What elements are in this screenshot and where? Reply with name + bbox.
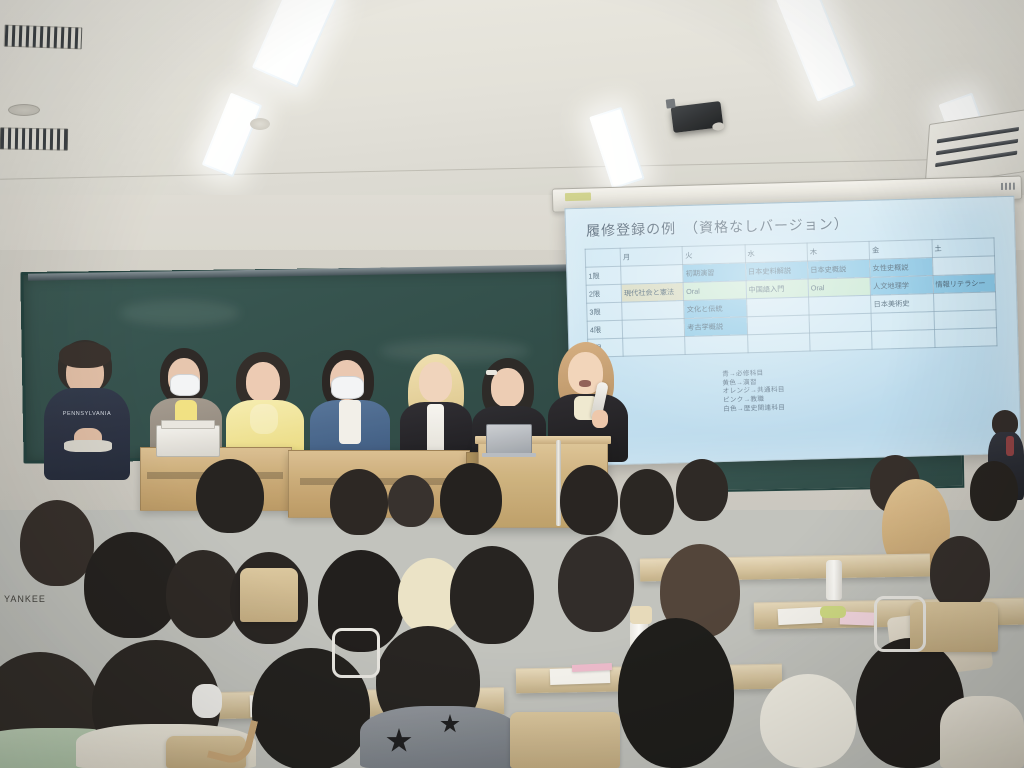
timetable-cell (622, 319, 685, 339)
housing-end-cap (1001, 183, 1015, 190)
chair-frame (874, 596, 926, 652)
timetable-header-tue: 火 (682, 245, 745, 265)
chair (510, 712, 620, 768)
timetable-cell (933, 292, 996, 312)
chair-frame (332, 628, 380, 678)
timetable-cell: 女性史概説 (870, 258, 933, 278)
ceiling-speaker-icon (250, 118, 270, 130)
timetable-header-fri: 金 (869, 240, 932, 260)
timetable-cell (621, 265, 684, 285)
hair-fringe (59, 342, 111, 368)
student-torso-star-sweater (360, 706, 520, 768)
timetable-cell: 考古学概説 (684, 317, 747, 337)
timetable-period-label: 1限 (586, 266, 621, 285)
blouse-ruffle (250, 404, 278, 434)
timetable-period-label: 3限 (587, 302, 622, 321)
head (246, 362, 280, 402)
document-device (156, 425, 220, 457)
timetable-cell (747, 315, 810, 335)
podium-laptop[interactable] (486, 424, 532, 454)
smoke-detector-icon (8, 104, 40, 116)
timetable-cell (810, 331, 873, 351)
slide-title: 履修登録の例 （資格なしバージョン） (586, 213, 849, 240)
projection-screen: 履修登録の例 （資格なしバージョン） 月 火 水 木 金 土 1限初期演習日本史… (564, 196, 1021, 466)
timetable-cell (809, 313, 872, 333)
timetable-period-label: 2限 (586, 284, 621, 303)
sweatshirt-graphic-text: PENNSYLVANIA (54, 410, 120, 418)
timetable-cell (871, 312, 934, 332)
timetable-cell: 人文地理学 (870, 276, 933, 296)
timetable-cell (746, 297, 809, 317)
timetable-cell (622, 301, 685, 321)
timetable-cell: 日本史概説 (808, 259, 871, 279)
timetable-cell: 情報リテラシー (933, 274, 996, 294)
timetable-body: 1限初期演習日本史料解説日本史概説女性史概説2限現代社会と憲法Oral中国語入門… (586, 256, 997, 357)
timetable-header-thu: 木 (807, 241, 870, 261)
timetable-cell (872, 330, 935, 350)
timetable-cell: 日本史料解説 (745, 261, 808, 281)
timetable-cell: 現代社会と憲法 (621, 283, 684, 303)
timetable-cell (747, 333, 810, 353)
timetable-wrapper: 月 火 水 木 金 土 1限初期演習日本史料解説日本史概説女性史概説2限現代社会… (585, 237, 998, 357)
timetable-header-sat: 土 (932, 238, 995, 258)
timetable-cell: 文化と伝統 (684, 299, 747, 319)
chair (240, 568, 298, 622)
cuff (64, 440, 112, 452)
chalk-smudge (120, 300, 240, 326)
timetable-cell: Oral (683, 281, 746, 301)
legend-line: 白色→歴史関連科目 (723, 404, 785, 414)
timetable-cell: 中国語入門 (746, 279, 809, 299)
student-head (760, 674, 856, 768)
white-scarf (427, 404, 444, 456)
face-mask (331, 376, 364, 399)
head (419, 362, 452, 402)
timetable-cell (932, 256, 995, 276)
timetable-cell (934, 328, 997, 348)
presenter-3 (226, 352, 304, 462)
timetable-header-wed: 水 (745, 243, 808, 263)
ceiling-projector-icon (671, 101, 724, 133)
student-head (618, 618, 734, 768)
timetable-period-label: 4限 (587, 320, 622, 339)
wall-vent-icon (4, 25, 83, 50)
timetable: 月 火 水 木 金 土 1限初期演習日本史料解説日本史概説女性史概説2限現代社会… (585, 237, 998, 357)
face-mask (170, 374, 200, 396)
housing-label (565, 192, 591, 201)
student-torso (940, 696, 1024, 768)
timetable-header-mon: 月 (620, 247, 683, 267)
hair-clip-icon (486, 370, 497, 375)
slide-legend: 青→必修科目黄色→演習オレンジ→共通科目ピンク→教職白色→歴史関連科目 (722, 369, 785, 414)
lecture-hall-photo: 履修登録の例 （資格なしバージョン） 月 火 水 木 金 土 1限初期演習日本史… (0, 0, 1024, 768)
timetable-cell (934, 310, 997, 330)
timetable-cell: 初期演習 (683, 263, 746, 283)
hand (592, 410, 608, 428)
open-mouth (579, 380, 591, 387)
presenter-5 (398, 354, 474, 462)
timetable-cell (809, 295, 872, 315)
inner-shirt (339, 400, 361, 444)
red-accent (1006, 436, 1014, 456)
timetable-cell: 日本美術史 (871, 294, 934, 314)
timetable-cell (685, 335, 748, 355)
wall-vent-icon (0, 127, 68, 150)
timetable-corner-cell (585, 248, 620, 267)
timetable-cell (623, 337, 686, 357)
presenter-4 (310, 350, 390, 462)
timetable-cell: Oral (808, 277, 871, 297)
